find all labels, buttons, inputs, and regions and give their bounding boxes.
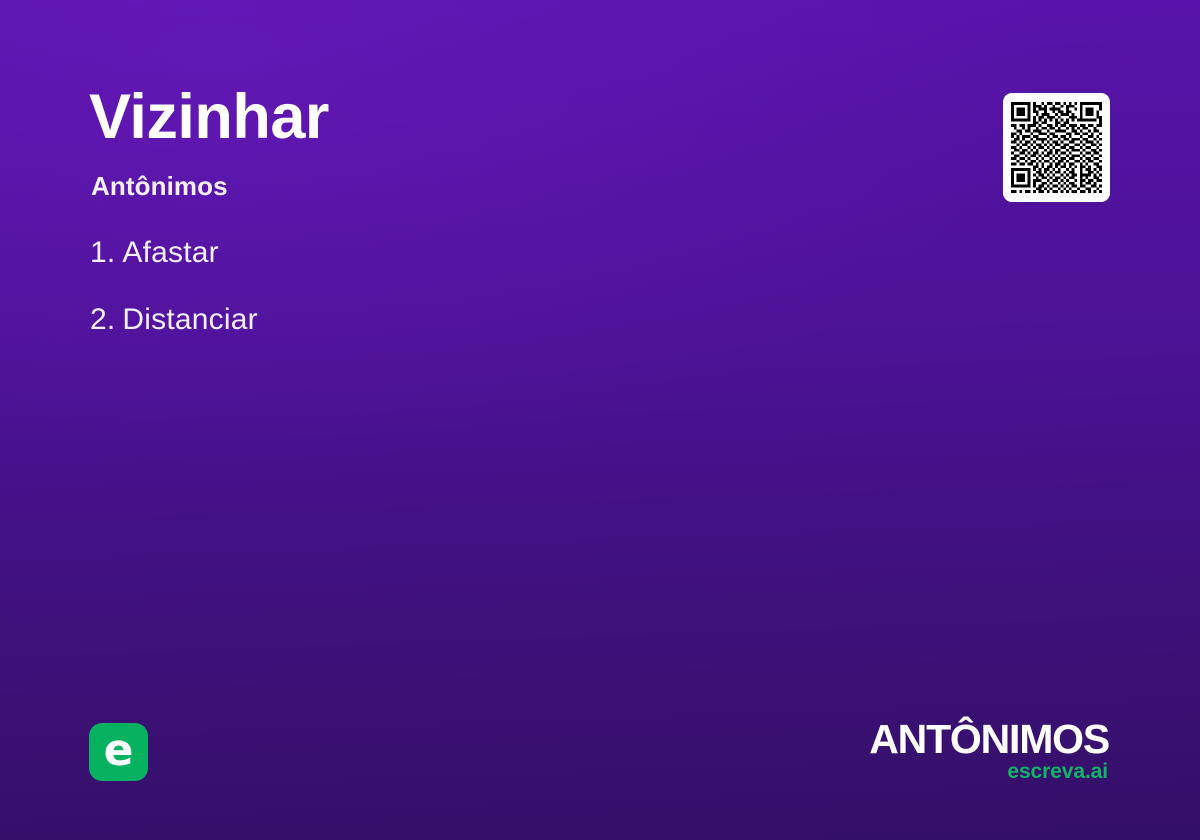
page-title: Vizinhar <box>89 86 329 149</box>
footer-logo-title: ANTÔNIMOS <box>869 722 1109 757</box>
headline-block: Vizinhar Antônimos <box>89 86 329 199</box>
footer-logo: ANTÔNIMOS escreva.ai <box>869 722 1109 782</box>
qr-code-panel[interactable] <box>1003 93 1110 202</box>
page-subtitle: Antônimos <box>91 173 329 199</box>
list-item-index: 2. <box>90 303 115 336</box>
antonyms-card: Vizinhar Antônimos 1.Afastar 2.Distancia… <box>0 0 1200 840</box>
qr-code-icon[interactable] <box>1011 102 1102 193</box>
list-item: 2.Distanciar <box>90 305 258 335</box>
list-item-label: Afastar <box>122 236 218 269</box>
antonyms-list: 1.Afastar 2.Distanciar <box>90 238 258 335</box>
list-item-label: Distanciar <box>122 303 257 336</box>
brand-badge-letter: e <box>104 729 134 773</box>
escreva-badge-icon[interactable]: e <box>89 723 148 781</box>
footer-logo-subtitle: escreva.ai <box>869 761 1108 782</box>
list-item: 1.Afastar <box>90 238 258 268</box>
list-item-index: 1. <box>90 236 115 269</box>
